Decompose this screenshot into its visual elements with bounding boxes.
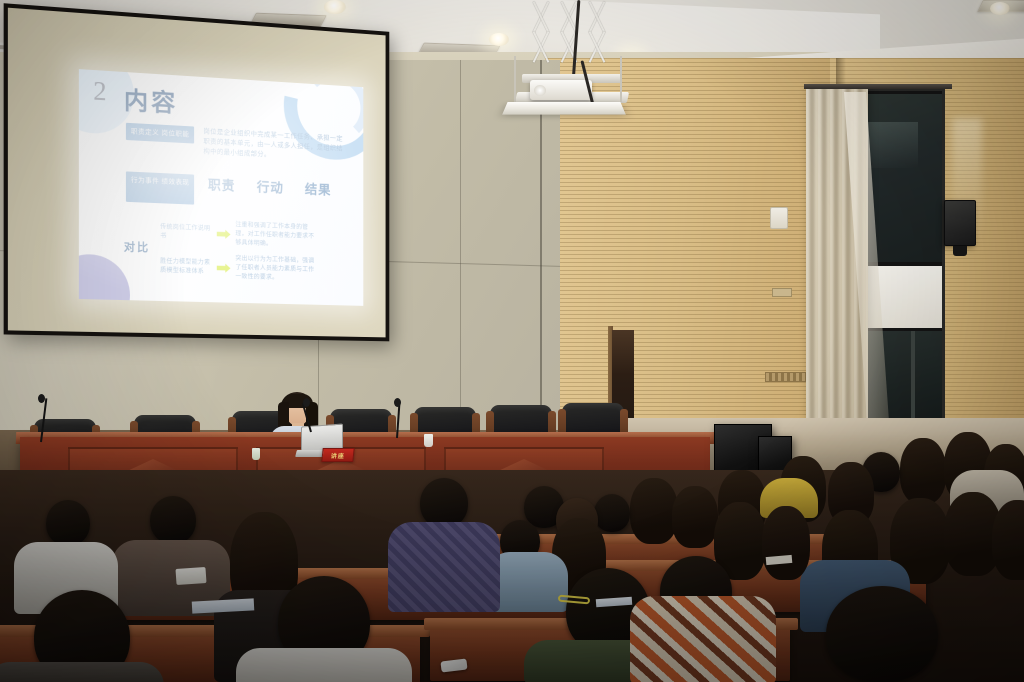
audience-person bbox=[420, 478, 468, 528]
cup-icon[interactable] bbox=[424, 434, 433, 447]
drop-rod bbox=[514, 56, 516, 102]
placard-text: 讲座 bbox=[322, 451, 353, 460]
cup-icon[interactable] bbox=[252, 448, 260, 460]
wall-plate-icon bbox=[770, 207, 788, 229]
wall-speaker-icon bbox=[944, 200, 976, 246]
audience-person bbox=[594, 494, 630, 532]
comparison-row: 胜任力模型能力素质模型标准体系 突出以行为为工作基础，强调了任职者人员能力素质与… bbox=[160, 253, 320, 285]
speaker-mount bbox=[953, 246, 967, 256]
audience-person bbox=[630, 478, 678, 544]
name-placard: 讲座 bbox=[321, 448, 354, 462]
slide-tag-box: 职责定义 岗位职能 bbox=[126, 123, 194, 144]
slide-comparison-label: 对比 bbox=[124, 238, 150, 255]
microphone-head bbox=[303, 398, 310, 407]
comparison-right-text: 注重和强调了工作本身的管理，对工作任职者能力要求不够具体明确。 bbox=[235, 221, 320, 251]
slide-keyword: 结果 bbox=[305, 182, 332, 198]
comparison-row: 传统岗位工作说明书 注重和强调了工作本身的管理，对工作任职者能力要求不够具体明确… bbox=[160, 218, 320, 251]
arrow-right-icon bbox=[217, 230, 231, 239]
comparison-left-text: 传统岗位工作说明书 bbox=[160, 223, 212, 243]
audience-torso bbox=[388, 522, 500, 612]
audience-person bbox=[46, 500, 90, 546]
window-mullion bbox=[911, 331, 915, 423]
presentation-slide: 2 内容 职责定义 岗位职能 岗位是企业组织中完成某一工作任务、承担一定职责的基… bbox=[79, 69, 363, 306]
audience-person bbox=[762, 506, 810, 580]
projector-lens bbox=[534, 85, 546, 96]
slide-keyword: 行动 bbox=[257, 179, 284, 195]
slide-number: 2 bbox=[93, 76, 106, 107]
comparison-right-text: 突出以行为为工作基础，强调了任职者人员能力素质与工作一致性的要求。 bbox=[235, 255, 320, 284]
slide-comparison-block: 传统岗位工作说明书 注重和强调了工作本身的管理，对工作任职者能力要求不够具体明确… bbox=[160, 218, 320, 291]
curtain-rod bbox=[804, 84, 952, 89]
audience-person bbox=[900, 438, 946, 504]
slide-decor-circle bbox=[79, 253, 130, 306]
slide-keyword: 职责 bbox=[208, 177, 235, 193]
slide-title: 内容 bbox=[124, 80, 178, 119]
projector-icon bbox=[530, 80, 592, 100]
audience-torso bbox=[0, 662, 164, 682]
lecture-hall-photo: 2 内容 职责定义 岗位职能 岗位是企业组织中完成某一工作任务、承担一定职责的基… bbox=[0, 0, 1024, 682]
microphone-head bbox=[394, 398, 401, 407]
microphone-head bbox=[38, 394, 45, 403]
arrow-right-icon bbox=[217, 263, 231, 272]
downlight-icon bbox=[489, 33, 509, 46]
comparison-left-text: 胜任力模型能力素质模型标准体系 bbox=[160, 257, 212, 277]
slide-keywords: 职责 行动 结果 bbox=[208, 177, 332, 197]
paper-cup[interactable] bbox=[175, 567, 206, 585]
audience-person bbox=[992, 500, 1024, 580]
projection-screen: 2 内容 职责定义 岗位职能 岗位是企业组织中完成某一工作任务、承担一定职责的基… bbox=[4, 3, 390, 341]
slide-tag-box: 行为事件 绩效表现 bbox=[126, 171, 194, 204]
wall-switch-icon bbox=[772, 288, 792, 297]
drop-rod bbox=[620, 56, 622, 102]
screen-surface: 2 内容 职责定义 岗位职能 岗位是企业组织中完成某一工作任务、承担一定职责的基… bbox=[8, 8, 386, 338]
audience-person bbox=[672, 486, 718, 548]
audience-torso bbox=[236, 648, 412, 682]
audience-person bbox=[150, 496, 196, 544]
suspended-light-panel bbox=[502, 102, 626, 115]
audience-person bbox=[826, 586, 938, 682]
downlight-icon bbox=[990, 2, 1010, 15]
audience-torso bbox=[630, 596, 776, 682]
downlight-icon bbox=[324, 0, 346, 14]
